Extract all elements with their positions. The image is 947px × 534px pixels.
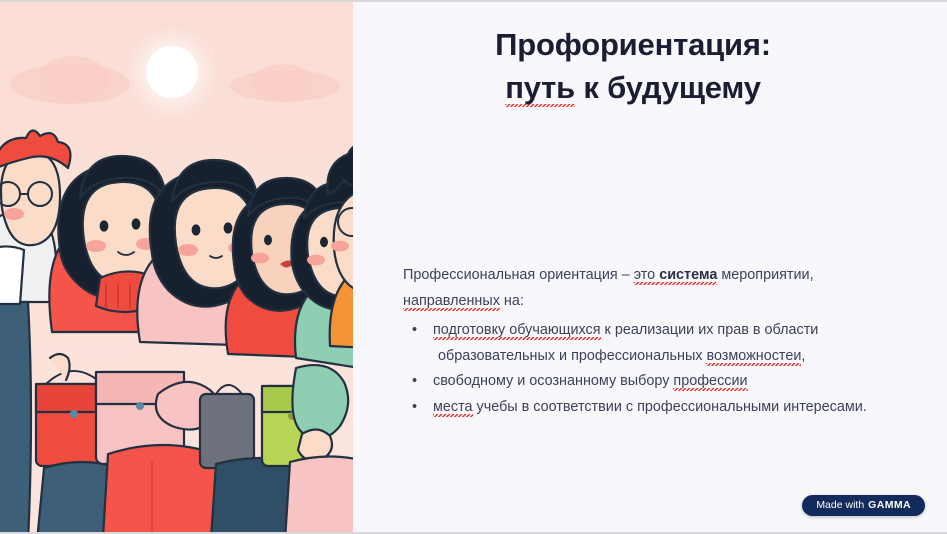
list-item: • свободному и осознанному выбору профес… xyxy=(403,369,915,395)
slide: Профориентация: путь к будущему Професси… xyxy=(0,0,947,534)
body-text: Профессиональная ориентация – это систем… xyxy=(403,263,915,420)
bullet-marker: • xyxy=(412,395,417,421)
bullet-list: • подготовку обучающихся к реализации их… xyxy=(403,318,915,420)
made-with-gamma-badge[interactable]: Made with GAMMA xyxy=(802,495,925,517)
intro-text-f: на: xyxy=(500,293,524,309)
title-line-2-rest: к будущему xyxy=(575,70,761,105)
bullet-1-sub-b: , xyxy=(801,348,805,364)
bullet-marker: • xyxy=(412,318,417,344)
bullet-3-highlight: места xyxy=(433,399,473,417)
badge-prefix: Made with xyxy=(816,500,864,511)
bullet-3-text: учебы в соответствии с профессиональными… xyxy=(473,399,867,415)
illustration-students xyxy=(0,2,353,532)
bullet-marker: • xyxy=(412,369,417,395)
intro-line-2: направленных на: xyxy=(403,289,915,315)
list-item: • подготовку обучающихся к реализации их… xyxy=(403,318,915,369)
title-word-misspelled: путь xyxy=(505,70,575,107)
bullet-1-text: к реализации их прав в области xyxy=(601,322,819,338)
bullet-2-highlight: профессии xyxy=(673,373,747,391)
students-crowd-drawing xyxy=(0,2,353,532)
content-panel: Профориентация: путь к будущему Професси… xyxy=(353,2,947,532)
bullet-1-sub-a: образовательных и профессиональных xyxy=(438,348,706,364)
title-line-1: Профориентация: xyxy=(353,24,913,67)
intro-paragraph: Профессиональная ориентация – это систем… xyxy=(403,263,915,314)
title-line-2: путь к будущему xyxy=(353,67,913,110)
bullet-1-highlight: подготовку обучающихся xyxy=(433,322,601,340)
intro-text-a: Профессиональная ориентация – xyxy=(403,267,634,283)
intro-line-1: Профессиональная ориентация – это систем… xyxy=(403,263,915,289)
intro-word-eto: это xyxy=(634,267,659,285)
page-title: Профориентация: путь к будущему xyxy=(353,24,913,110)
badge-brand: GAMMA xyxy=(868,500,911,511)
intro-word-sistema: система xyxy=(659,267,717,285)
bullet-1-subline: образовательных и профессиональных возмо… xyxy=(433,344,915,370)
bullet-1-sub-highlight: возможностеи xyxy=(706,348,801,366)
list-item: • места учебы в соответствии с профессио… xyxy=(403,395,915,421)
intro-word-napravlennyh: направленных xyxy=(403,293,500,311)
intro-text-d: мероприятии, xyxy=(717,267,813,283)
bullet-2-text: свободному и осознанному выбору xyxy=(433,373,673,389)
